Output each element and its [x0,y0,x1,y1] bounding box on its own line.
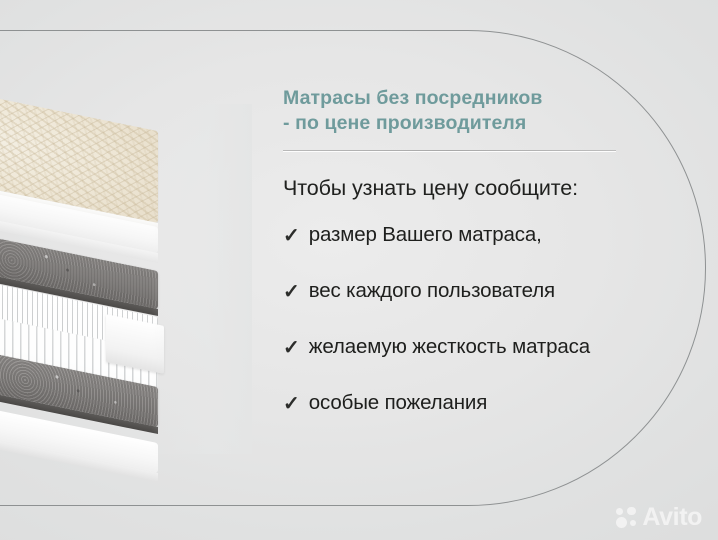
list-item-label: желаемую жесткость матраса [309,335,590,359]
content-column: Матрасы без посредников - по цене произв… [283,86,635,415]
requirements-list: ✓ размер Вашего матраса, ✓ вес каждого п… [283,223,635,415]
list-item-label: вес каждого пользователя [309,279,555,303]
list-item-label: особые пожелания [309,391,487,415]
check-icon: ✓ [283,338,300,358]
check-icon: ✓ [283,394,300,414]
list-item: ✓ особые пожелания [283,391,635,415]
list-item-label: размер Вашего матраса, [309,223,542,247]
avito-watermark: Avito [616,505,702,530]
prompt-text: Чтобы узнать цену сообщите: [283,175,635,201]
ad-banner: Матрасы без посредников - по цене произв… [0,0,718,540]
mattress-layers-illustration [0,104,252,454]
list-item: ✓ желаемую жесткость матраса [283,335,635,359]
avito-logo-icon [616,507,638,529]
list-item: ✓ вес каждого пользователя [283,279,635,303]
headline: Матрасы без посредников - по цене произв… [283,86,635,136]
list-item: ✓ размер Вашего матраса, [283,223,635,247]
check-icon: ✓ [283,282,300,302]
check-icon: ✓ [283,226,300,246]
avito-wordmark: Avito [642,505,702,530]
headline-divider [283,150,616,151]
